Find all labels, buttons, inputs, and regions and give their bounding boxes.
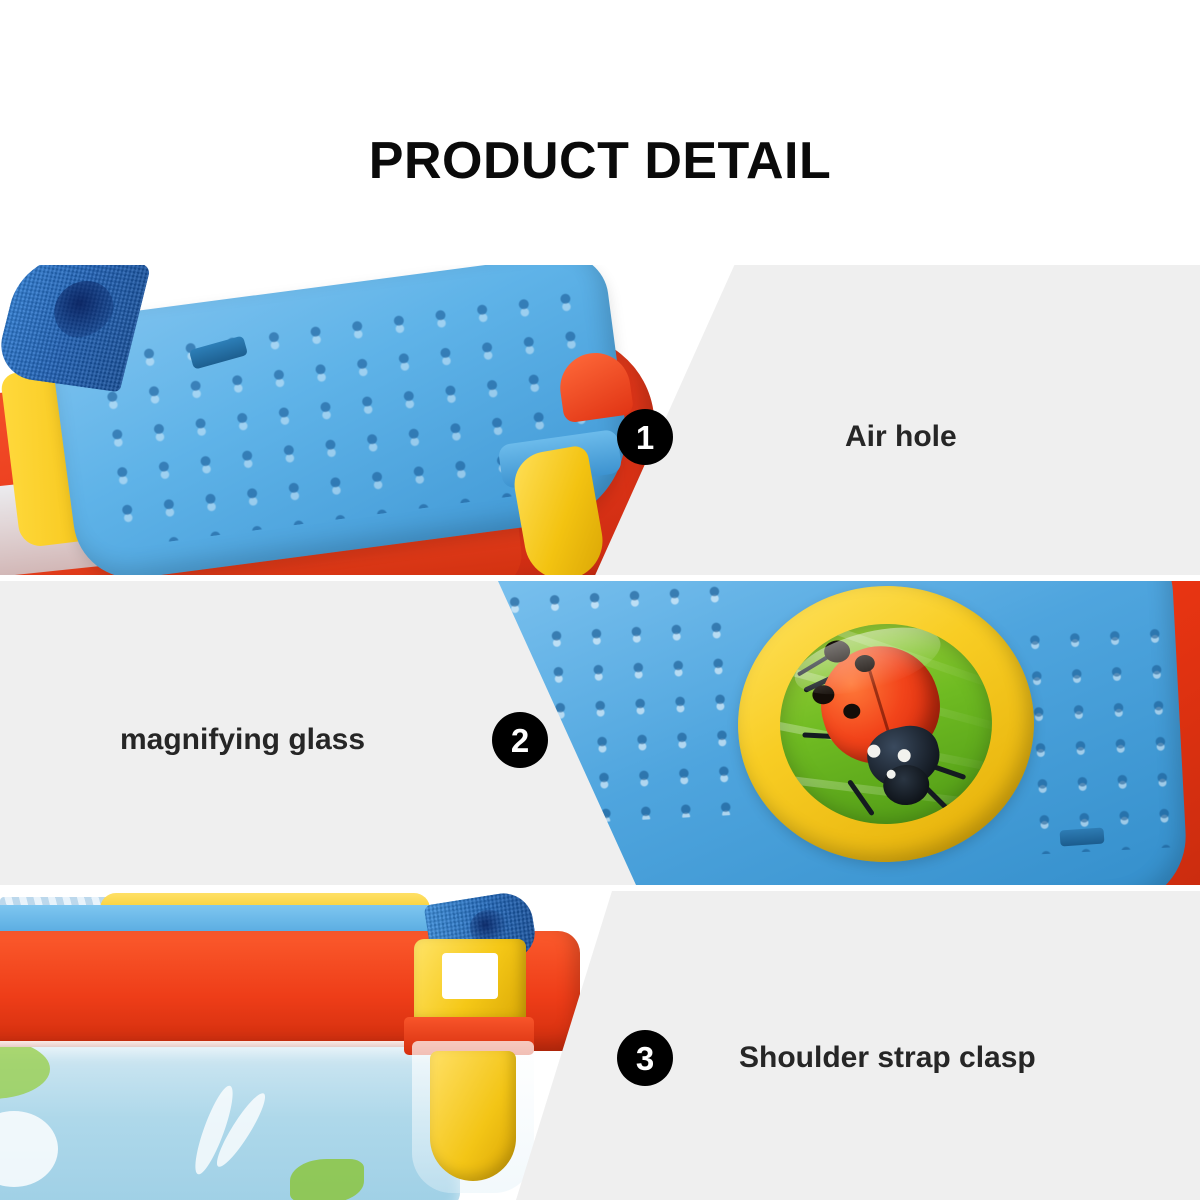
- callout-air-hole: 1 Air hole: [617, 409, 957, 465]
- callout-shoulder-strap-clasp: 3 Shoulder strap clasp: [617, 1030, 1036, 1086]
- callout-label-shoulder-strap-clasp: Shoulder strap clasp: [739, 1041, 1036, 1075]
- page-header: PRODUCT DETAIL: [0, 0, 1200, 265]
- callout-badge-1: 1: [617, 409, 673, 465]
- callout-label-magnifying-glass: magnifying glass: [120, 723, 365, 757]
- callout-badge-3: 3: [617, 1030, 673, 1086]
- info-panel-air-hole: [0, 265, 1200, 575]
- callout-label-air-hole: Air hole: [845, 420, 957, 454]
- callout-badge-2: 2: [492, 712, 548, 768]
- info-panel-layer-1: [0, 265, 1200, 575]
- page-title: PRODUCT DETAIL: [0, 131, 1200, 191]
- detail-section-air-hole: [0, 265, 1200, 575]
- callout-magnifying-glass: 2 magnifying glass: [120, 712, 548, 768]
